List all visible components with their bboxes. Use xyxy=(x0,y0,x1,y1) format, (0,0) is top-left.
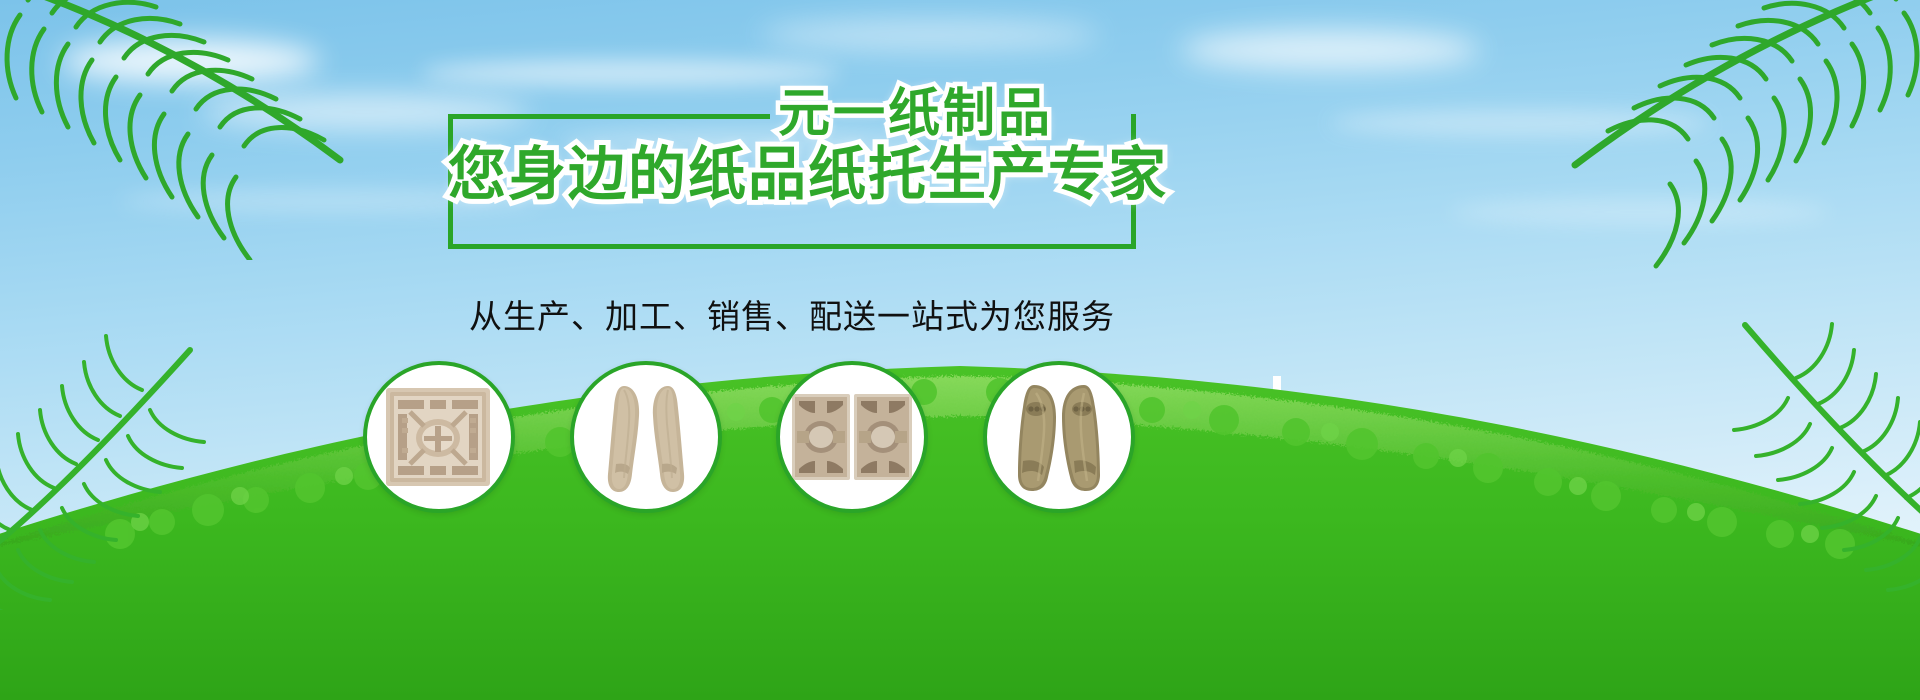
molded-pulp-shoe-trees xyxy=(594,378,698,496)
product-circle-4[interactable] xyxy=(983,361,1135,513)
molded-pulp-tray-square xyxy=(384,384,494,490)
brand-name: 元一纸制品 xyxy=(778,88,1053,140)
frame-line-bottom xyxy=(448,244,1136,249)
title-block: 元一纸制品 您身边的纸品纸托生产专家 xyxy=(448,88,1136,228)
molded-pulp-shoe-forms xyxy=(1006,379,1112,495)
frame-line-top xyxy=(448,114,770,119)
subtitle: 从生产、加工、销售、配送一站式为您服务 xyxy=(448,290,1136,338)
green-hill xyxy=(0,300,1920,700)
product-circle-3[interactable] xyxy=(776,361,928,513)
product-circle-1[interactable] xyxy=(363,361,515,513)
hero-banner: 元一纸制品 您身边的纸品纸托生产专家 从生产、加工、销售、配送一站式为您服务 xyxy=(0,0,1920,700)
product-circle-2[interactable] xyxy=(570,361,722,513)
page-title: 您身边的纸品纸托生产专家 xyxy=(448,146,1136,204)
molded-pulp-pair-trays xyxy=(791,391,913,483)
